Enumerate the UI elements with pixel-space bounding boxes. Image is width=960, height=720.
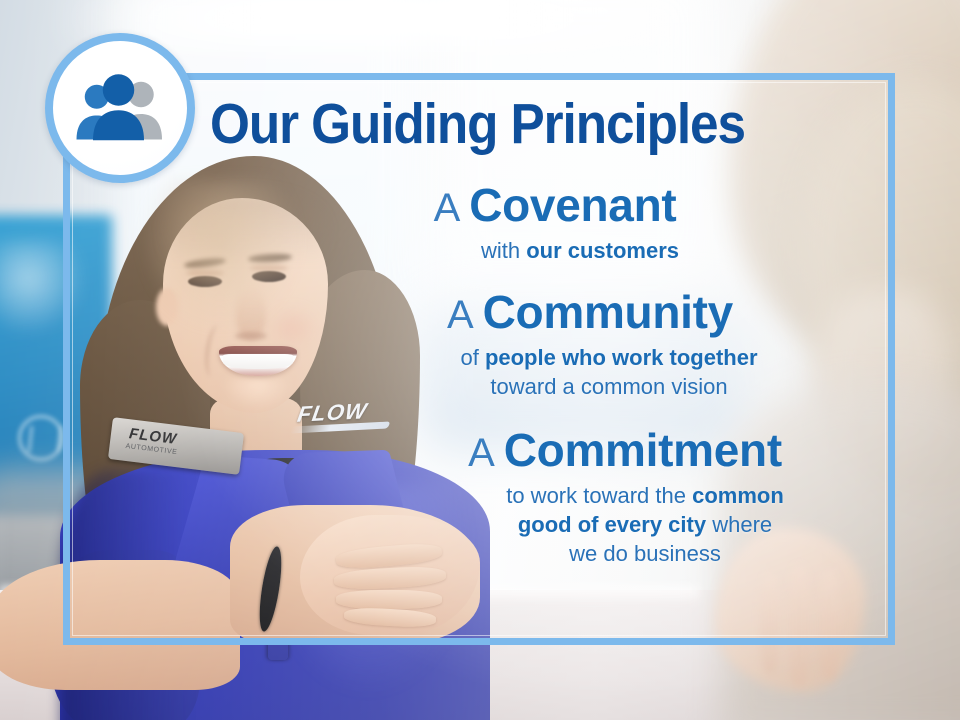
principle-keyword: Commitment (504, 424, 782, 476)
subtext-run: where (706, 512, 772, 537)
customer-finger (818, 570, 840, 680)
subtext-run: of (460, 345, 484, 370)
subtext-run: toward a common vision (490, 374, 727, 399)
subtext-run: we do business (569, 541, 721, 566)
principle-subtext: of people who work togethertoward a comm… (300, 343, 890, 401)
principles-list: A Covenant with our customers A Communit… (300, 182, 890, 580)
principle-subtext: to work toward the commongood of every c… (300, 481, 890, 568)
customer-finger (788, 566, 810, 686)
arm-left (0, 560, 240, 690)
principle-article: A (468, 431, 504, 475)
principle-keyword: Covenant (469, 179, 676, 231)
principle-heading: A Covenant (300, 182, 890, 229)
people-badge (45, 33, 195, 183)
principle-heading: A Commitment (300, 427, 890, 474)
page-title: Our Guiding Principles (210, 96, 745, 153)
hair-shine (140, 180, 300, 330)
principle-subtext: with our customers (300, 236, 890, 265)
customer-finger (760, 574, 780, 674)
finger (336, 590, 442, 609)
guiding-principles-banner: FLOW FLOW AUTOMOTIVE (0, 0, 960, 720)
subtext-run: to work toward the (506, 483, 692, 508)
principle-article: A (447, 293, 483, 337)
subtext-emphasis: our customers (526, 238, 679, 263)
ceiling-light-strip (60, 0, 700, 46)
people-group-icon (72, 72, 168, 144)
principle-item: A Covenant with our customers (300, 182, 890, 265)
subtext-emphasis: common (692, 483, 784, 508)
principle-item: A Community of people who work togethert… (300, 289, 890, 401)
subtext-emphasis: good of every city (518, 512, 706, 537)
principle-heading: A Community (300, 289, 890, 336)
vw-logo-icon (18, 415, 64, 461)
subtext-emphasis: people who work together (485, 345, 758, 370)
chin-highlight (222, 378, 292, 410)
principle-item: A Commitment to work toward the commongo… (300, 427, 890, 568)
teeth (223, 354, 293, 369)
subtext-run: with (481, 238, 526, 263)
principle-keyword: Community (483, 286, 733, 338)
nostril-shadow (235, 332, 267, 340)
principle-article: A (434, 186, 470, 230)
